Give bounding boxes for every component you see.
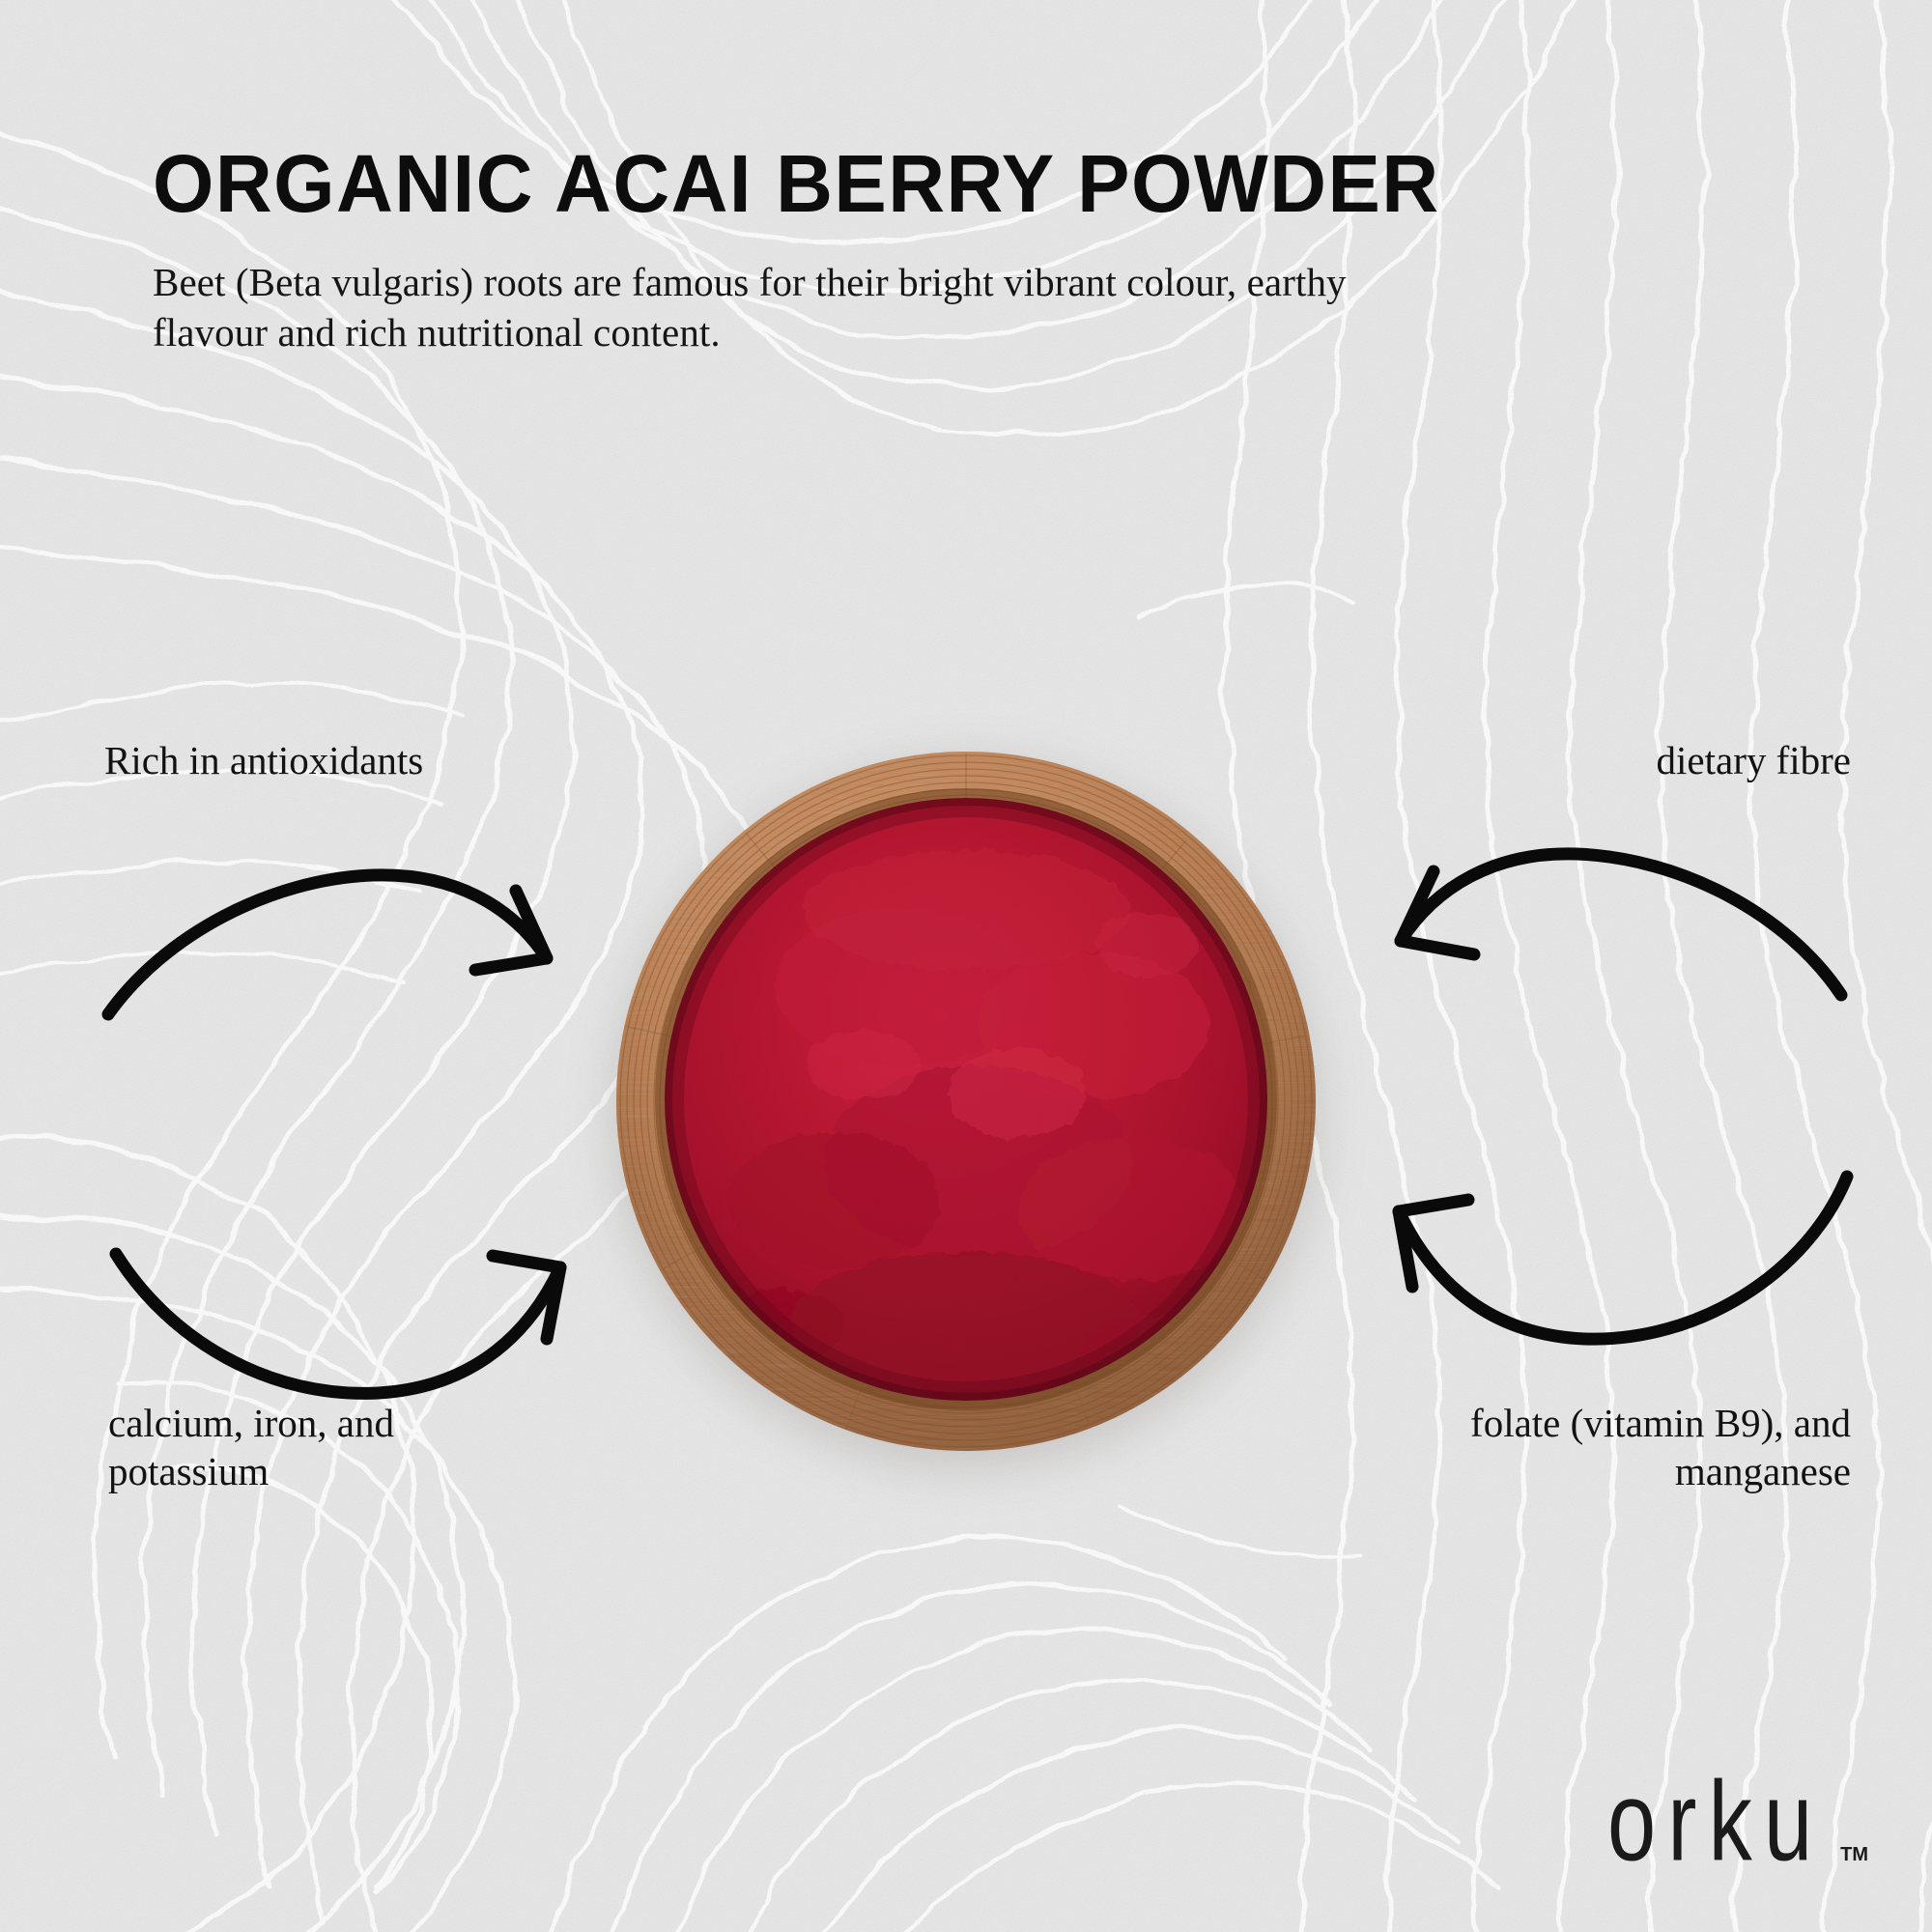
brand-wordmark: orku [1607, 1773, 1824, 1872]
callout-label-minerals: calcium, iron, and potassium [108, 1399, 611, 1495]
callout-label-antioxidants: Rich in antioxidants [104, 736, 607, 784]
product-image-bowl-of-acai-powder [611, 746, 1321, 1457]
arrow-top-right-icon [1352, 811, 1855, 1034]
brand-logo[interactable]: orku TM [1607, 1791, 1868, 1872]
infographic-poster: ORGANIC ACAI BERRY POWDER Beet (Beta vul… [0, 0, 1932, 1932]
arrow-bottom-right-icon [1352, 1159, 1855, 1391]
header: ORGANIC ACAI BERRY POWDER Beet (Beta vul… [153, 143, 1698, 357]
trademark-symbol: TM [1840, 1844, 1868, 1866]
callout-label-dietary-fibre: dietary fibre [1310, 736, 1851, 784]
page-title: ORGANIC ACAI BERRY POWDER [153, 143, 1652, 224]
page-subtitle: Beet (Beta vulgaris) roots are famous fo… [153, 257, 1399, 357]
callout-label-vitamins: folate (vitamin B9), and manganese [1252, 1399, 1851, 1495]
arrow-top-left-icon [97, 831, 580, 1053]
